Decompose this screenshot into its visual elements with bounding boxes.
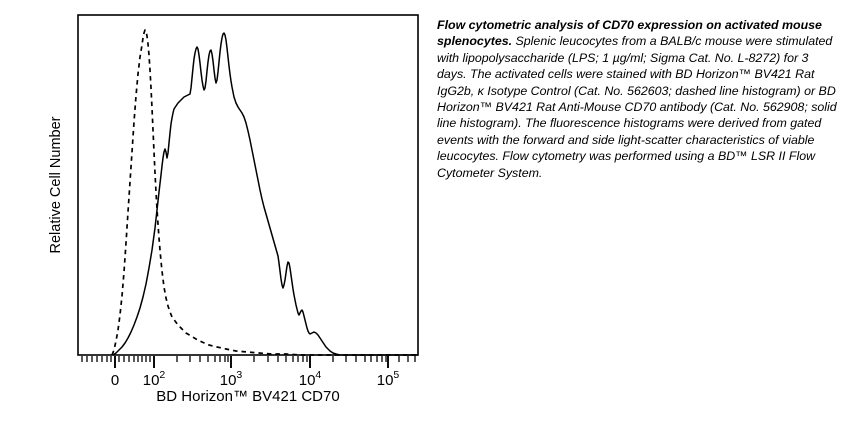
plot-svg: 0102103104105 BD Horizon™ BV421 CD70 Rel… (0, 0, 430, 428)
x-axis-tick-label: 104 (299, 369, 322, 389)
x-axis-tick-label: 103 (220, 369, 243, 389)
caption-body-text: Splenic leucocytes from a BALB/c mouse w… (437, 34, 837, 179)
x-axis-tick-label: 105 (377, 369, 400, 389)
y-axis-title: Relative Cell Number (48, 116, 64, 253)
flow-cytometry-histogram-plot: 0102103104105 BD Horizon™ BV421 CD70 Rel… (0, 0, 430, 428)
figure-caption: Flow cytometric analysis of CD70 express… (437, 17, 837, 181)
x-axis-major-ticks (115, 356, 388, 368)
x-axis-tick-label: 0 (111, 372, 119, 389)
x-axis-minor-ticks (82, 356, 415, 362)
x-axis-tick-label: 102 (143, 369, 166, 389)
x-axis-title: BD Horizon™ BV421 CD70 (156, 388, 339, 405)
x-axis-tick-labels: 0102103104105 (111, 369, 400, 389)
figure-root: 0102103104105 BD Horizon™ BV421 CD70 Rel… (0, 0, 850, 428)
